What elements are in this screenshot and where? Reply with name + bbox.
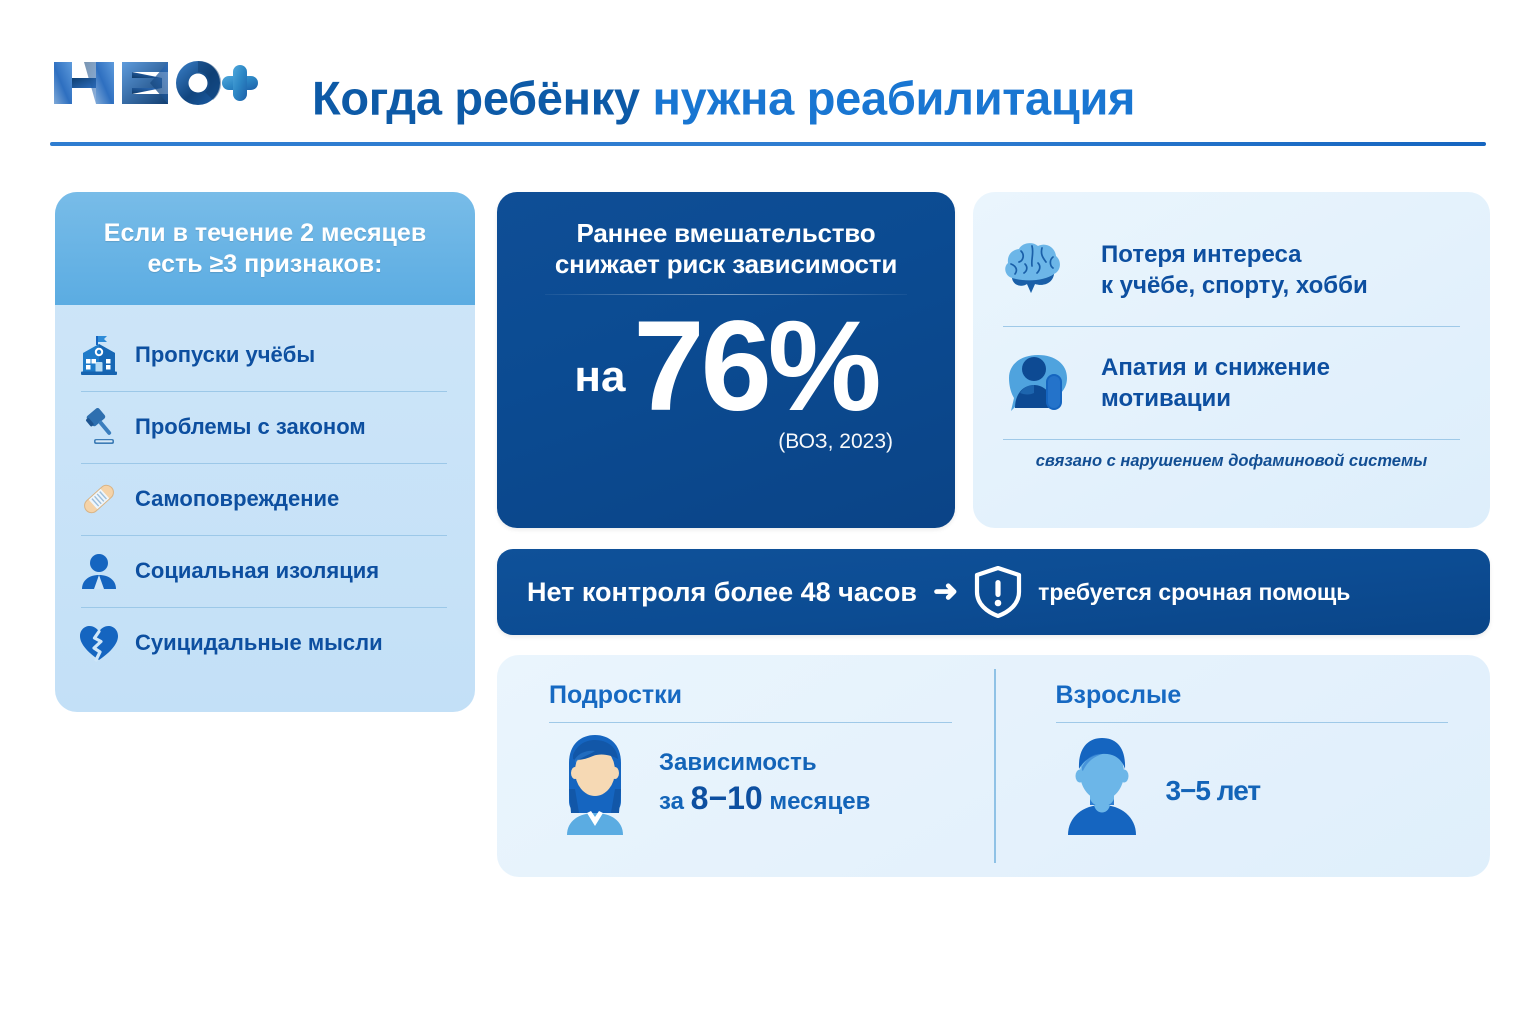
symptom-line2: мотивации — [1101, 385, 1231, 412]
teens-text-prefix: за — [659, 788, 684, 815]
list-item[interactable]: Апатия и снижение мотивации — [1001, 327, 1462, 439]
bandage-icon — [77, 477, 121, 521]
adults-duration: 3−5 лет — [1166, 753, 1261, 813]
list-item[interactable]: Суицидальные мысли — [77, 607, 453, 679]
teens-text-line2: за 8−10 месяцев — [659, 778, 870, 818]
adults-title: Взрослые — [1056, 681, 1459, 710]
stat-value-row: на 76% — [525, 311, 927, 424]
header: Когда ребёнку нужна реабилитация — [50, 46, 1490, 156]
teens-text-line1: Зависимость — [659, 748, 870, 778]
teens-title: Подростки — [549, 681, 962, 710]
gavel-icon — [77, 405, 121, 449]
list-item[interactable]: Социальная изоляция — [77, 535, 453, 607]
stat-value: 76% — [633, 311, 877, 424]
list-item-label: Самоповреждение — [135, 487, 339, 511]
symptom-line1: Апатия и снижение — [1101, 354, 1330, 381]
signs-panel: Если в течение 2 месяцев есть ≥3 признак… — [55, 192, 475, 712]
adult-man-icon — [1056, 729, 1148, 837]
stat-source: (ВОЗ, 2023) — [525, 430, 927, 454]
arrow-right-icon: ➜ — [933, 577, 958, 607]
neo-plus-logo — [50, 52, 260, 114]
symptoms-note: связано с нарушением дофаминовой системы — [1001, 440, 1462, 471]
list-item-label: Проблемы с законом — [135, 415, 366, 439]
adults-column: Взрослые 3 — [994, 655, 1491, 877]
teens-content-row: Зависимость за 8−10 месяцев — [549, 729, 962, 837]
stat-heading-line2: снижает риск зависимости — [525, 249, 927, 280]
broken-heart-icon — [77, 621, 121, 665]
list-item[interactable]: Проблемы с законом — [77, 391, 453, 463]
adults-duration-unit: лет — [1217, 775, 1260, 806]
infographic-page: Когда ребёнку нужна реабилитация Если в … — [0, 0, 1536, 1024]
stat-heading-line1: Раннее вмешательство — [525, 218, 927, 249]
symptom-text: Потеря интереса к учёбе, спорту, хобби — [1101, 239, 1368, 301]
brain-icon — [1001, 235, 1079, 305]
symptom-line1: Потеря интереса — [1101, 241, 1301, 268]
signs-heading-line2: есть ≥3 признаков: — [148, 249, 383, 280]
list-item[interactable]: Пропуски учёбы — [77, 319, 453, 391]
alert-condition-text: Нет контроля более 48 часов — [527, 577, 917, 608]
alert-action-text: требуется срочная помощь — [1038, 579, 1350, 606]
early-intervention-stat-panel: Раннее вмешательство снижает риск зависи… — [497, 192, 955, 528]
teens-column: Подростки — [497, 655, 994, 877]
symptoms-panel: Потеря интереса к учёбе, спорту, хобби А… — [973, 192, 1490, 528]
list-item[interactable]: Самоповреждение — [77, 463, 453, 535]
signs-heading-line1: Если в течение 2 месяцев — [104, 218, 426, 249]
teen-girl-icon — [549, 729, 641, 837]
list-item-label: Пропуски учёбы — [135, 343, 315, 367]
list-item-label: Суицидальные мысли — [135, 631, 383, 655]
teens-text-suffix: месяцев — [769, 788, 870, 815]
page-title-bold: Когда ребёнку — [312, 72, 640, 125]
symptom-line2: к учёбе, спорту, хобби — [1101, 272, 1368, 299]
signs-list: Пропуски учёбы Проблемы с законом — [55, 305, 475, 697]
addiction-timeline-compare-panel: Подростки — [497, 655, 1490, 877]
header-divider — [50, 142, 1486, 146]
adults-divider — [1056, 722, 1449, 723]
teens-divider — [549, 722, 952, 723]
urgent-alert-banner: Нет контроля более 48 часов ➜ требуется … — [497, 549, 1490, 635]
adults-content-row: 3−5 лет — [1056, 729, 1459, 837]
teens-duration-value: 8−10 — [691, 780, 763, 816]
apathy-person-icon — [1001, 348, 1079, 418]
page-title-light: нужна реабилитация — [653, 72, 1136, 125]
stat-prefix: на — [574, 352, 625, 402]
teens-text: Зависимость за 8−10 месяцев — [659, 748, 870, 818]
symptom-text: Апатия и снижение мотивации — [1101, 352, 1330, 414]
list-item[interactable]: Потеря интереса к учёбе, спорту, хобби — [1001, 214, 1462, 326]
school-icon — [77, 333, 121, 377]
page-title: Когда ребёнку нужна реабилитация — [312, 75, 1135, 122]
shield-alert-icon — [974, 566, 1022, 618]
adults-duration-value: 3−5 — [1166, 775, 1211, 806]
list-item-label: Социальная изоляция — [135, 559, 379, 583]
person-icon — [77, 549, 121, 593]
stat-heading: Раннее вмешательство снижает риск зависи… — [525, 218, 927, 280]
signs-panel-heading: Если в течение 2 месяцев есть ≥3 признак… — [55, 192, 475, 305]
